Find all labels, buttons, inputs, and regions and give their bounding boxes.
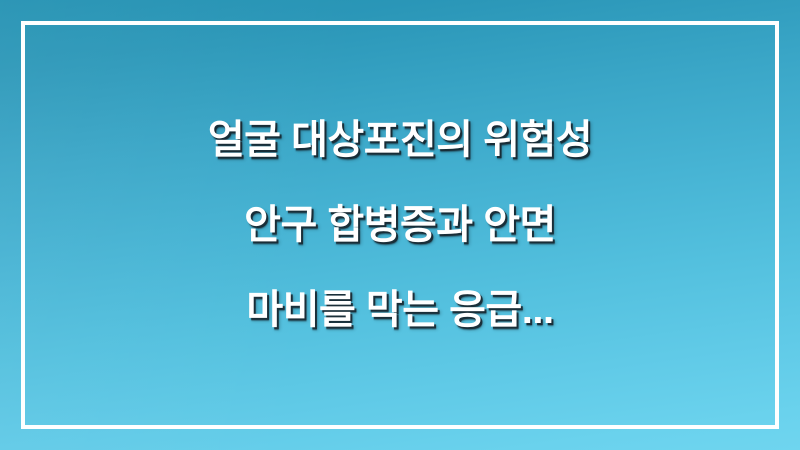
thumbnail-card: 얼굴 대상포진의 위험성 안구 합병증과 안면 마비를 막는 응급... bbox=[0, 0, 800, 450]
headline-line-2: 안구 합병증과 안면 bbox=[46, 183, 754, 268]
headline-line-1: 얼굴 대상포진의 위험성 bbox=[46, 98, 754, 183]
headline-line-3: 마비를 막는 응급... bbox=[46, 268, 754, 353]
headline-text-block: 얼굴 대상포진의 위험성 안구 합병증과 안면 마비를 막는 응급... bbox=[0, 0, 800, 450]
